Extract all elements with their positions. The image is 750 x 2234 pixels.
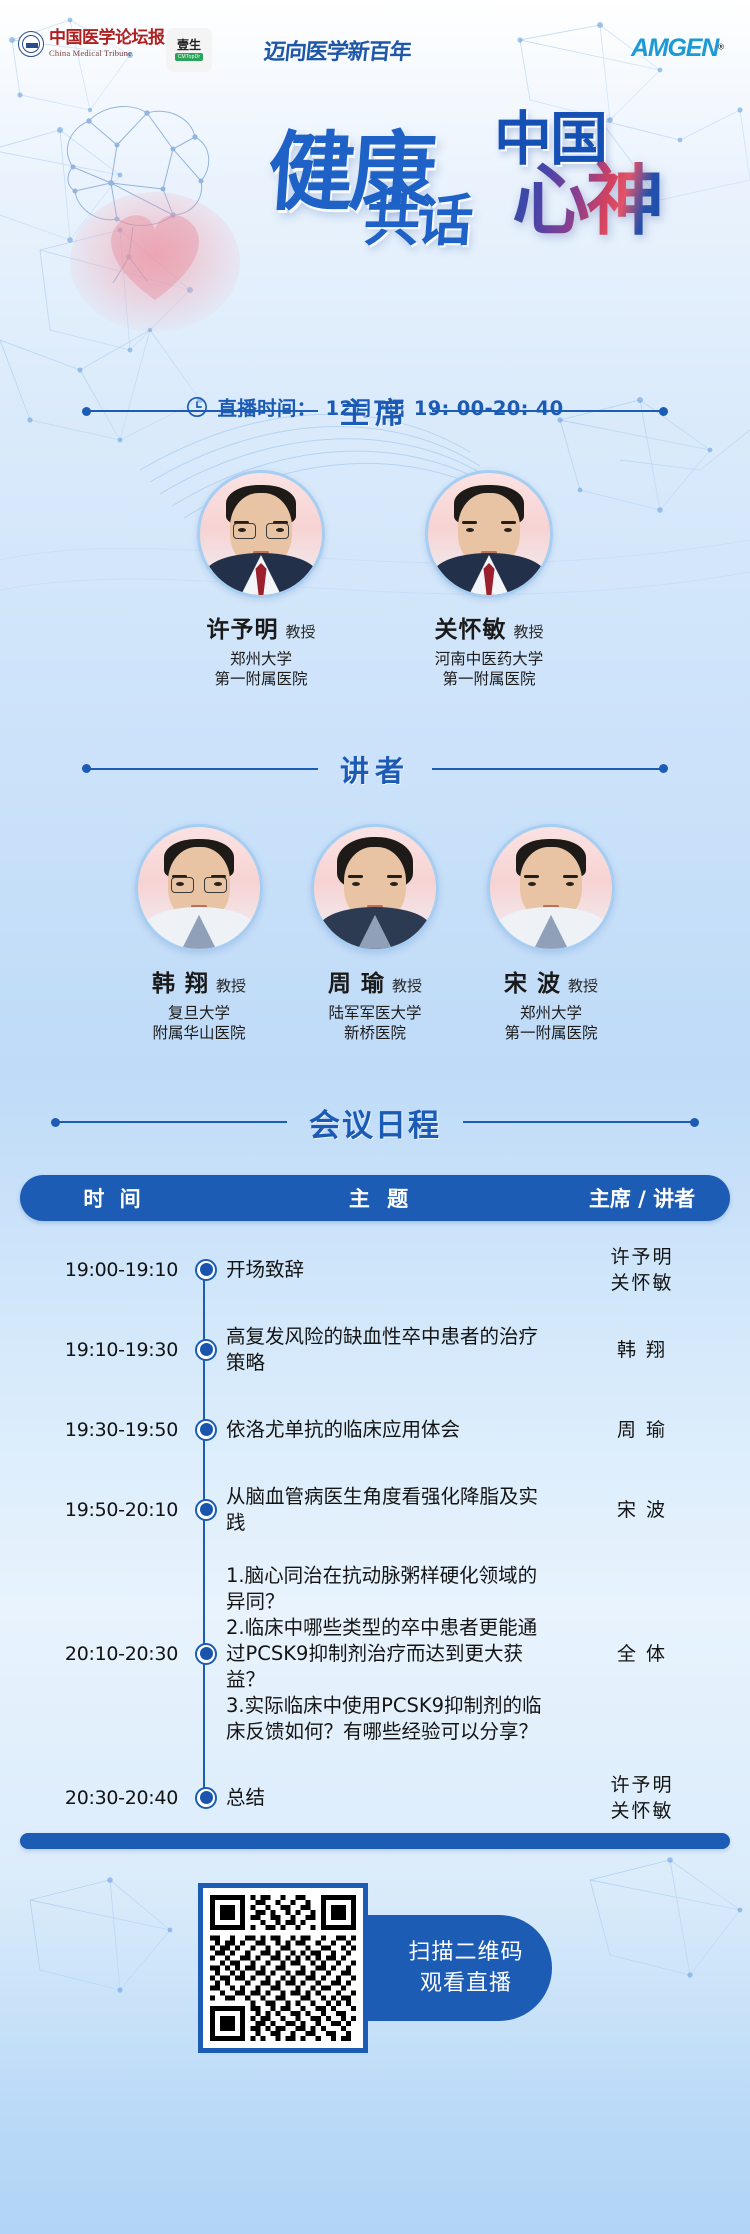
timeline-dot [186, 1339, 226, 1361]
cmt-seal-icon [18, 31, 44, 57]
person-name: 关怀敏 [434, 617, 506, 643]
row-who-line1: 周 瑜 [554, 1417, 730, 1443]
avatar [197, 470, 325, 598]
row-topic: 开场致辞 [226, 1257, 554, 1283]
row-who: 韩 翔 [554, 1337, 730, 1363]
agenda-table: 时 间 主 题 主席 / 讲者 19:00-19:10 开场致辞 许予明 关怀敏… [20, 1175, 730, 1849]
person-title: 教授 [216, 977, 246, 995]
row-who: 许予明 关怀敏 [554, 1244, 730, 1296]
person-title: 教授 [392, 977, 422, 995]
chair-section-header: 主席 [0, 390, 750, 432]
column-header-topic: 主 题 [208, 1183, 554, 1213]
person-org-line1: 郑州大学 [214, 649, 307, 669]
row-time: 19:30-19:50 [20, 1419, 186, 1441]
avatar [425, 470, 553, 598]
amgen-registered-mark: ® [718, 43, 724, 52]
logo-row: 中国医学论坛报 China Medical Tribune 壹生 CMTopDr… [0, 28, 750, 74]
row-who-line1: 韩 翔 [554, 1337, 730, 1363]
table-row: 19:50-20:10 从脑血管病医生角度看强化降脂及实践 宋 波 [20, 1483, 730, 1537]
person-org: 郑州大学 第一附属医院 [504, 1003, 597, 1044]
row-who-line1: 宋 波 [554, 1497, 730, 1523]
person-title: 教授 [285, 623, 315, 641]
agenda-section-label: 会议日程 [287, 1100, 463, 1145]
section-divider-right [432, 410, 664, 412]
row-who-line1: 许予明 [554, 1772, 730, 1798]
row-time: 19:50-20:10 [20, 1499, 186, 1521]
row-time: 20:30-20:40 [20, 1787, 186, 1809]
avatar [135, 824, 263, 952]
person-org-line2: 第一附属医院 [504, 1023, 597, 1043]
chair-name-block: 许予明 教授 [206, 610, 315, 644]
cmt-logo-en: China Medical Tribune [49, 49, 165, 58]
speaker-person-1: 韩 翔 教授 复旦大学 附属华山医院 [135, 824, 263, 1044]
logo-amgen: AMGEN® [631, 34, 724, 63]
qr-code-icon[interactable] [198, 1883, 368, 2053]
speaker-list: 韩 翔 教授 复旦大学 附属华山医院 周 瑜 教授 陆军军医大学 新桥医院 [0, 824, 750, 1044]
person-org-line2: 第一附属医院 [435, 669, 544, 689]
section-divider-right [432, 768, 664, 770]
agenda-footer-bar [20, 1833, 730, 1849]
logo-china-medical-tribune: 中国医学论坛报 China Medical Tribune [18, 30, 165, 58]
speaker-person-3: 宋 波 教授 郑州大学 第一附属医院 [487, 824, 615, 1044]
timeline-dot [186, 1787, 226, 1809]
person-name: 宋 波 [504, 971, 561, 997]
row-who-line2: 关怀敏 [554, 1270, 730, 1296]
person-org: 陆军军医大学 新桥医院 [328, 1003, 421, 1044]
qr-caption: 扫描二维码 观看直播 [354, 1915, 552, 2021]
person-name: 周 瑜 [328, 971, 385, 997]
agenda-section-header: 会议日程 [0, 1100, 750, 1145]
row-time: 20:10-20:30 [20, 1643, 186, 1665]
title-gonghua: 共话 [362, 194, 472, 250]
timeline-dot [186, 1259, 226, 1281]
yisheng-logo-cn: 壹生 [177, 39, 201, 51]
speaker-name-block: 周 瑜 教授 [328, 964, 422, 998]
section-divider-left [55, 1121, 287, 1123]
person-org-line2: 新桥医院 [328, 1023, 421, 1043]
timeline-dot [186, 1643, 226, 1665]
speaker-section-label: 讲者 [318, 748, 432, 790]
speaker-person-2: 周 瑜 教授 陆军军医大学 新桥医院 [311, 824, 439, 1044]
speaker-section-header: 讲者 [0, 748, 750, 790]
row-topic: 从脑血管病医生角度看强化降脂及实践 [226, 1484, 554, 1536]
person-name: 许予明 [206, 617, 278, 643]
agenda-rows: 19:00-19:10 开场致辞 许予明 关怀敏 19:10-19:30 高复发… [20, 1221, 730, 1825]
column-header-who: 主席 / 讲者 [554, 1183, 730, 1213]
row-who: 许予明 关怀敏 [554, 1772, 730, 1824]
person-org-line1: 郑州大学 [504, 1003, 597, 1023]
section-divider-left [86, 768, 318, 770]
speaker-name-block: 韩 翔 教授 [152, 964, 246, 998]
row-who-line1: 全 体 [554, 1641, 730, 1667]
page-header: 中国医学论坛报 China Medical Tribune 壹生 CMTopDr… [0, 0, 750, 92]
table-row: 19:30-19:50 依洛尤单抗的临床应用体会 周 瑜 [20, 1403, 730, 1457]
row-topic: 总结 [226, 1785, 554, 1811]
person-org-line1: 复旦大学 [152, 1003, 245, 1023]
person-title: 教授 [513, 623, 543, 641]
title-xinshen: 心神 [512, 162, 660, 240]
section-divider-left [86, 410, 318, 412]
person-org-line2: 附属华山医院 [152, 1023, 245, 1043]
person-org: 河南中医药大学 第一附属医院 [435, 649, 544, 690]
person-org: 郑州大学 第一附属医院 [214, 649, 307, 690]
speaker-name-block: 宋 波 教授 [504, 964, 598, 998]
century-logo-text: 迈向医学新百年 [263, 34, 413, 66]
qr-caption-line2: 观看直播 [420, 1968, 512, 1999]
chair-name-block: 关怀敏 教授 [434, 610, 543, 644]
row-topic: 1.脑心同治在抗动脉粥样硬化领域的异同？ 2.临床中哪些类型的卒中患者更能通过P… [226, 1563, 554, 1744]
event-title: 中国 健康 共话 心神 [212, 116, 732, 256]
column-header-time: 时 间 [20, 1183, 208, 1213]
person-org-line2: 第一附属医院 [214, 669, 307, 689]
qr-caption-line1: 扫描二维码 [408, 1937, 523, 1968]
cmt-logo-cn: 中国医学论坛报 [49, 30, 165, 47]
row-who-line2: 关怀敏 [554, 1798, 730, 1824]
hero-banner: 中国 健康 共话 心神 直播时间： 12月7日 19: 00-20: 40 [0, 92, 750, 352]
table-row: 20:30-20:40 总结 许予明 关怀敏 [20, 1771, 730, 1825]
avatar [311, 824, 439, 952]
row-topic: 依洛尤单抗的临床应用体会 [226, 1417, 554, 1443]
row-who: 周 瑜 [554, 1417, 730, 1443]
chair-person-2: 关怀敏 教授 河南中医药大学 第一附属医院 [425, 470, 553, 690]
section-divider-right [463, 1121, 695, 1123]
amgen-logo-text: AMGEN [631, 34, 718, 62]
timeline-dot [186, 1419, 226, 1441]
row-time: 19:00-19:10 [20, 1259, 186, 1281]
qr-section: 扫描二维码 观看直播 [0, 1883, 750, 2093]
person-org-line1: 陆军军医大学 [328, 1003, 421, 1023]
row-time: 19:10-19:30 [20, 1339, 186, 1361]
person-org: 复旦大学 附属华山医院 [152, 1003, 245, 1044]
row-who: 全 体 [554, 1641, 730, 1667]
yisheng-logo-badge: CMTopDr [175, 53, 204, 61]
chair-section-label: 主席 [318, 390, 432, 432]
row-who-line1: 许予明 [554, 1244, 730, 1270]
table-row: 20:10-20:30 1.脑心同治在抗动脉粥样硬化领域的异同？ 2.临床中哪些… [20, 1559, 730, 1749]
timeline-dot [186, 1499, 226, 1521]
person-title: 教授 [568, 977, 598, 995]
logo-yisheng: 壹生 CMTopDr [166, 28, 212, 72]
table-row: 19:10-19:30 高复发风险的缺血性卒中患者的治疗策略 韩 翔 [20, 1323, 730, 1377]
avatar [487, 824, 615, 952]
row-who: 宋 波 [554, 1497, 730, 1523]
row-topic: 高复发风险的缺血性卒中患者的治疗策略 [226, 1324, 554, 1376]
agenda-table-header: 时 间 主 题 主席 / 讲者 [20, 1175, 730, 1221]
logo-century-campaign: 迈向医学新百年 [258, 24, 418, 76]
table-row: 19:00-19:10 开场致辞 许予明 关怀敏 [20, 1243, 730, 1297]
person-org-line1: 河南中医药大学 [435, 649, 544, 669]
chair-list: 许予明 教授 郑州大学 第一附属医院 关怀敏 教授 河南中医药大学 第一附属医院 [0, 470, 750, 690]
chair-person-1: 许予明 教授 郑州大学 第一附属医院 [197, 470, 325, 690]
person-name: 韩 翔 [152, 971, 209, 997]
